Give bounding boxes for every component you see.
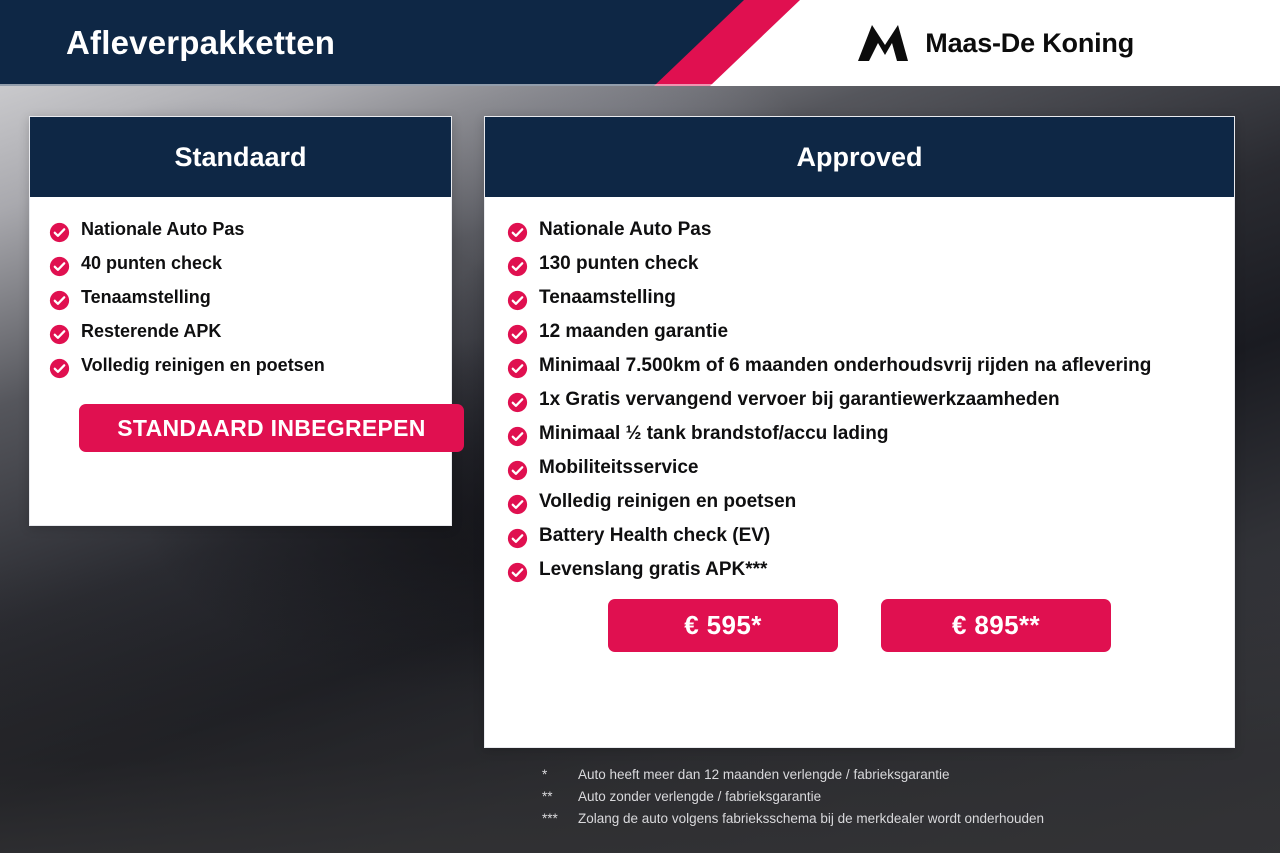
check-circle-icon (507, 426, 528, 447)
footnote-row: *** Zolang de auto volgens fabrieksschem… (542, 808, 1242, 830)
footnotes: * Auto heeft meer dan 12 maanden verleng… (542, 764, 1242, 830)
standaard-inbegrepen-button[interactable]: STANDAARD INBEGREPEN (79, 404, 464, 452)
feature-label: Volledig reinigen en poetsen (539, 490, 796, 515)
check-circle-icon (507, 290, 528, 311)
list-item: Minimaal 7.500km of 6 maanden onderhouds… (507, 354, 1212, 379)
feature-label: Battery Health check (EV) (539, 524, 770, 549)
brand-logo: Maas-De Koning (855, 0, 1134, 86)
footnote-marker: * (542, 764, 578, 786)
feature-list-approved: Nationale Auto Pas 130 punten check Tena… (507, 218, 1212, 583)
feature-label: Nationale Auto Pas (539, 218, 711, 243)
check-circle-icon (49, 256, 70, 277)
list-item: Volledig reinigen en poetsen (49, 354, 432, 379)
feature-label: Nationale Auto Pas (81, 218, 244, 241)
price-button-895[interactable]: € 895** (881, 599, 1111, 652)
check-circle-icon (507, 324, 528, 345)
check-circle-icon (49, 222, 70, 243)
list-item: 1x Gratis vervangend vervoer bij garanti… (507, 388, 1212, 413)
list-item: 130 punten check (507, 252, 1212, 277)
check-circle-icon (49, 358, 70, 379)
check-circle-icon (507, 562, 528, 583)
check-circle-icon (507, 528, 528, 549)
list-item: Tenaamstelling (507, 286, 1212, 311)
feature-label: Resterende APK (81, 320, 221, 343)
feature-label: Levenslang gratis APK*** (539, 558, 767, 583)
brand-name: Maas-De Koning (925, 28, 1134, 59)
footnote-marker: ** (542, 786, 578, 808)
feature-label: Minimaal 7.500km of 6 maanden onderhouds… (539, 354, 1151, 379)
price-button-row: € 595* € 895** (507, 599, 1212, 652)
check-circle-icon (507, 256, 528, 277)
package-body-standaard: Nationale Auto Pas 40 punten check Tenaa… (30, 197, 451, 452)
list-item: Nationale Auto Pas (507, 218, 1212, 243)
page-title: Afleverpakketten (66, 0, 335, 86)
footnote-marker: *** (542, 808, 578, 830)
feature-list-standaard: Nationale Auto Pas 40 punten check Tenaa… (49, 218, 432, 379)
check-circle-icon (49, 324, 70, 345)
check-circle-icon (507, 222, 528, 243)
footnote-row: * Auto heeft meer dan 12 maanden verleng… (542, 764, 1242, 786)
list-item: Levenslang gratis APK*** (507, 558, 1212, 583)
list-item: Minimaal ½ tank brandstof/accu lading (507, 422, 1212, 447)
footnote-text: Zolang de auto volgens fabrieksschema bi… (578, 808, 1242, 830)
check-circle-icon (507, 460, 528, 481)
check-circle-icon (507, 358, 528, 379)
feature-label: 130 punten check (539, 252, 698, 277)
feature-label: 1x Gratis vervangend vervoer bij garanti… (539, 388, 1060, 413)
check-circle-icon (49, 290, 70, 311)
list-item: Volledig reinigen en poetsen (507, 490, 1212, 515)
list-item: Battery Health check (EV) (507, 524, 1212, 549)
maas-de-koning-mark-icon (855, 23, 911, 63)
price-button-595[interactable]: € 595* (608, 599, 838, 652)
feature-label: Mobiliteitsservice (539, 456, 698, 481)
footnote-text: Auto zonder verlengde / fabrieksgarantie (578, 786, 1242, 808)
list-item: Tenaamstelling (49, 286, 432, 311)
list-item: 12 maanden garantie (507, 320, 1212, 345)
list-item: Nationale Auto Pas (49, 218, 432, 243)
feature-label: Tenaamstelling (81, 286, 211, 309)
package-title-standaard: Standaard (30, 117, 451, 197)
footnote-text: Auto heeft meer dan 12 maanden verlengde… (578, 764, 1242, 786)
feature-label: 40 punten check (81, 252, 222, 275)
list-item: Resterende APK (49, 320, 432, 345)
package-body-approved: Nationale Auto Pas 130 punten check Tena… (485, 197, 1234, 652)
package-card-standaard: Standaard Nationale Auto Pas 40 punten c… (29, 116, 452, 526)
check-circle-icon (507, 392, 528, 413)
check-circle-icon (507, 494, 528, 515)
feature-label: Volledig reinigen en poetsen (81, 354, 325, 377)
list-item: 40 punten check (49, 252, 432, 277)
page-header: Afleverpakketten Maas-De Koning (0, 0, 1280, 86)
feature-label: Minimaal ½ tank brandstof/accu lading (539, 422, 888, 447)
list-item: Mobiliteitsservice (507, 456, 1212, 481)
package-card-approved: Approved Nationale Auto Pas 130 punten c… (484, 116, 1235, 748)
afleverpakketten-page: Afleverpakketten Maas-De Koning Standaar… (0, 0, 1280, 853)
package-title-approved: Approved (485, 117, 1234, 197)
feature-label: Tenaamstelling (539, 286, 676, 311)
feature-label: 12 maanden garantie (539, 320, 728, 345)
header-underline (0, 84, 1280, 86)
footnote-row: ** Auto zonder verlengde / fabrieksgaran… (542, 786, 1242, 808)
